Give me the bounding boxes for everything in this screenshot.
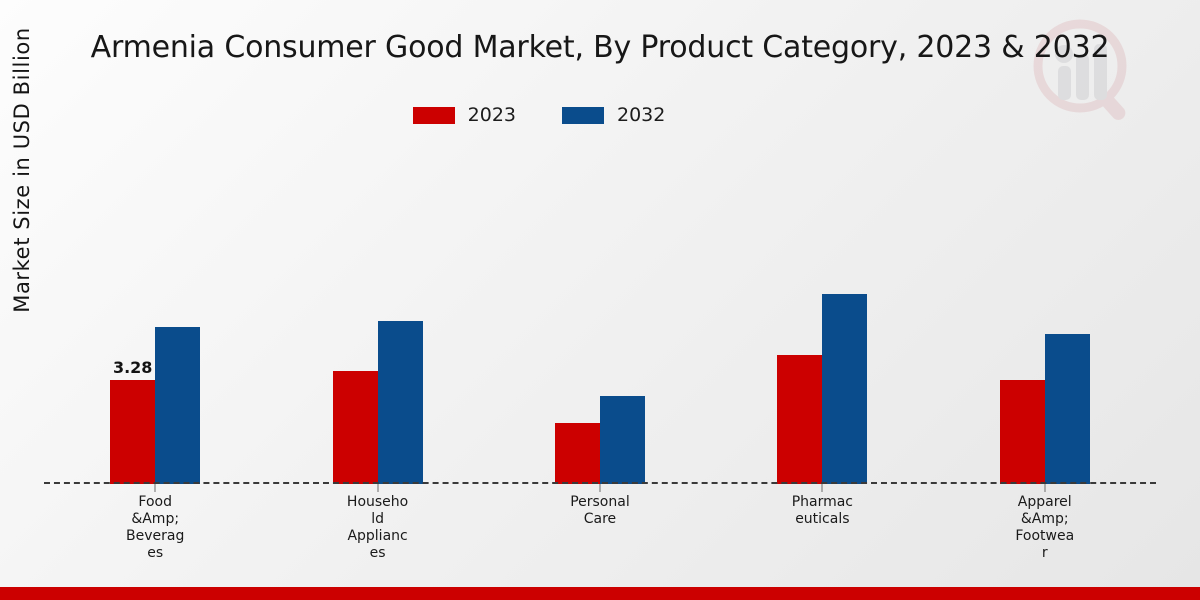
bar-group-1 [298, 150, 458, 484]
bar-2023-3[interactable] [777, 355, 822, 484]
legend-swatch-2032 [562, 107, 604, 124]
tick-mark-3 [822, 484, 823, 492]
x-tick-2: Personal Care [520, 484, 680, 528]
bar-2032-0[interactable] [155, 327, 200, 484]
bar-group-4 [965, 150, 1125, 484]
bar-2032-1[interactable] [378, 321, 423, 484]
x-axis-label-1: Household Appliances [347, 494, 409, 562]
x-tick-0: Food &Amp; Beverages [75, 484, 235, 562]
chart-legend: 2023 2032 [0, 104, 1200, 126]
footer-accent-strip [0, 587, 1200, 600]
x-axis: Food &Amp; Beverages Household Appliance… [44, 484, 1156, 564]
legend-label-2023: 2023 [468, 104, 516, 126]
tick-mark-2 [599, 484, 600, 492]
bar-group-0: 3.28 [75, 150, 235, 484]
bar-group-3 [742, 150, 902, 484]
tick-mark-0 [155, 484, 156, 492]
bar-2023-4[interactable] [1000, 380, 1045, 484]
bar-2032-2[interactable] [600, 396, 645, 484]
x-axis-label-0: Food &Amp; Beverages [124, 494, 186, 562]
legend-swatch-2023 [413, 107, 455, 124]
bar-value-2023-0: 3.28 [113, 358, 152, 377]
bar-2032-3[interactable] [822, 294, 867, 484]
bar-group-2 [520, 150, 680, 484]
bar-2023-0[interactable]: 3.28 [110, 380, 155, 484]
bar-2023-1[interactable] [333, 371, 378, 484]
x-tick-3: Pharmaceuticals [742, 484, 902, 528]
bar-groups: 3.28 [44, 150, 1156, 484]
x-axis-label-2: Personal Care [569, 494, 631, 528]
x-tick-1: Household Appliances [298, 484, 458, 562]
plot-area: 3.28 [44, 150, 1156, 484]
bar-2023-2[interactable] [555, 423, 600, 484]
x-axis-label-3: Pharmaceuticals [791, 494, 853, 528]
x-tick-4: Apparel &Amp; Footwear [965, 484, 1125, 562]
y-axis-title: Market Size in USD Billion [10, 0, 34, 340]
chart-title: Armenia Consumer Good Market, By Product… [0, 30, 1200, 65]
chart-container: Armenia Consumer Good Market, By Product… [0, 0, 1200, 600]
legend-label-2032: 2032 [617, 104, 665, 126]
x-axis-label-4: Apparel &Amp; Footwear [1014, 494, 1076, 562]
tick-mark-4 [1044, 484, 1045, 492]
legend-item-2032[interactable]: 2032 [562, 104, 665, 126]
bar-2032-4[interactable] [1045, 334, 1090, 484]
tick-mark-1 [377, 484, 378, 492]
legend-item-2023[interactable]: 2023 [413, 104, 516, 126]
